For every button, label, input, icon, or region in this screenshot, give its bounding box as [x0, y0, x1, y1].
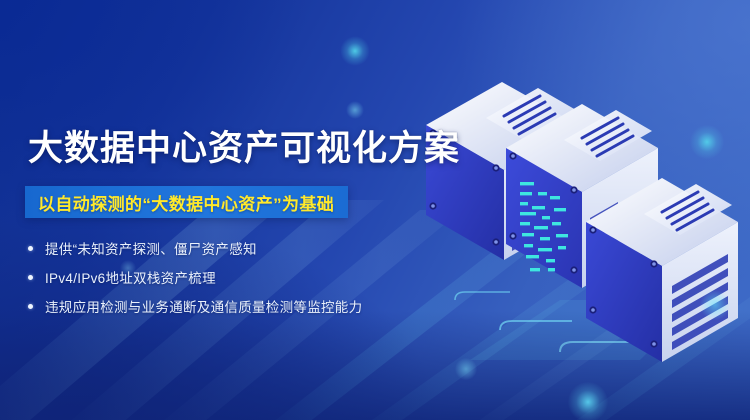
list-item-label: 违规应用检测与业务通断及通信质量检测等监控能力 — [45, 296, 362, 316]
marketing-banner: 大数据中心资产可视化方案 以自动探测的“大数据中心资产”为基础 提供“未知资产探… — [0, 0, 750, 420]
feature-list: 提供“未知资产探测、僵尸资产感知 IPv4/IPv6地址双栈资产梳理 违规应用检… — [28, 234, 448, 321]
list-item: 违规应用检测与业务通断及通信质量检测等监控能力 — [28, 292, 448, 320]
list-item: 提供“未知资产探测、僵尸资产感知 — [28, 234, 448, 262]
banner-content: 大数据中心资产可视化方案 以自动探测的“大数据中心资产”为基础 提供“未知资产探… — [0, 0, 460, 420]
subtitle-text: 以自动探测的“大数据中心资产”为基础 — [38, 190, 334, 215]
bullet-dot-icon — [28, 304, 33, 309]
list-item: IPv4/IPv6地址双栈资产梳理 — [28, 263, 448, 291]
list-item-label: 提供“未知资产探测、僵尸资产感知 — [45, 238, 257, 258]
subtitle-band: 以自动探测的“大数据中心资产”为基础 — [25, 186, 348, 218]
bullet-dot-icon — [28, 246, 33, 251]
list-item-label: IPv4/IPv6地址双栈资产梳理 — [45, 267, 216, 287]
bullet-dot-icon — [28, 275, 33, 280]
page-title: 大数据中心资产可视化方案 — [28, 126, 460, 172]
